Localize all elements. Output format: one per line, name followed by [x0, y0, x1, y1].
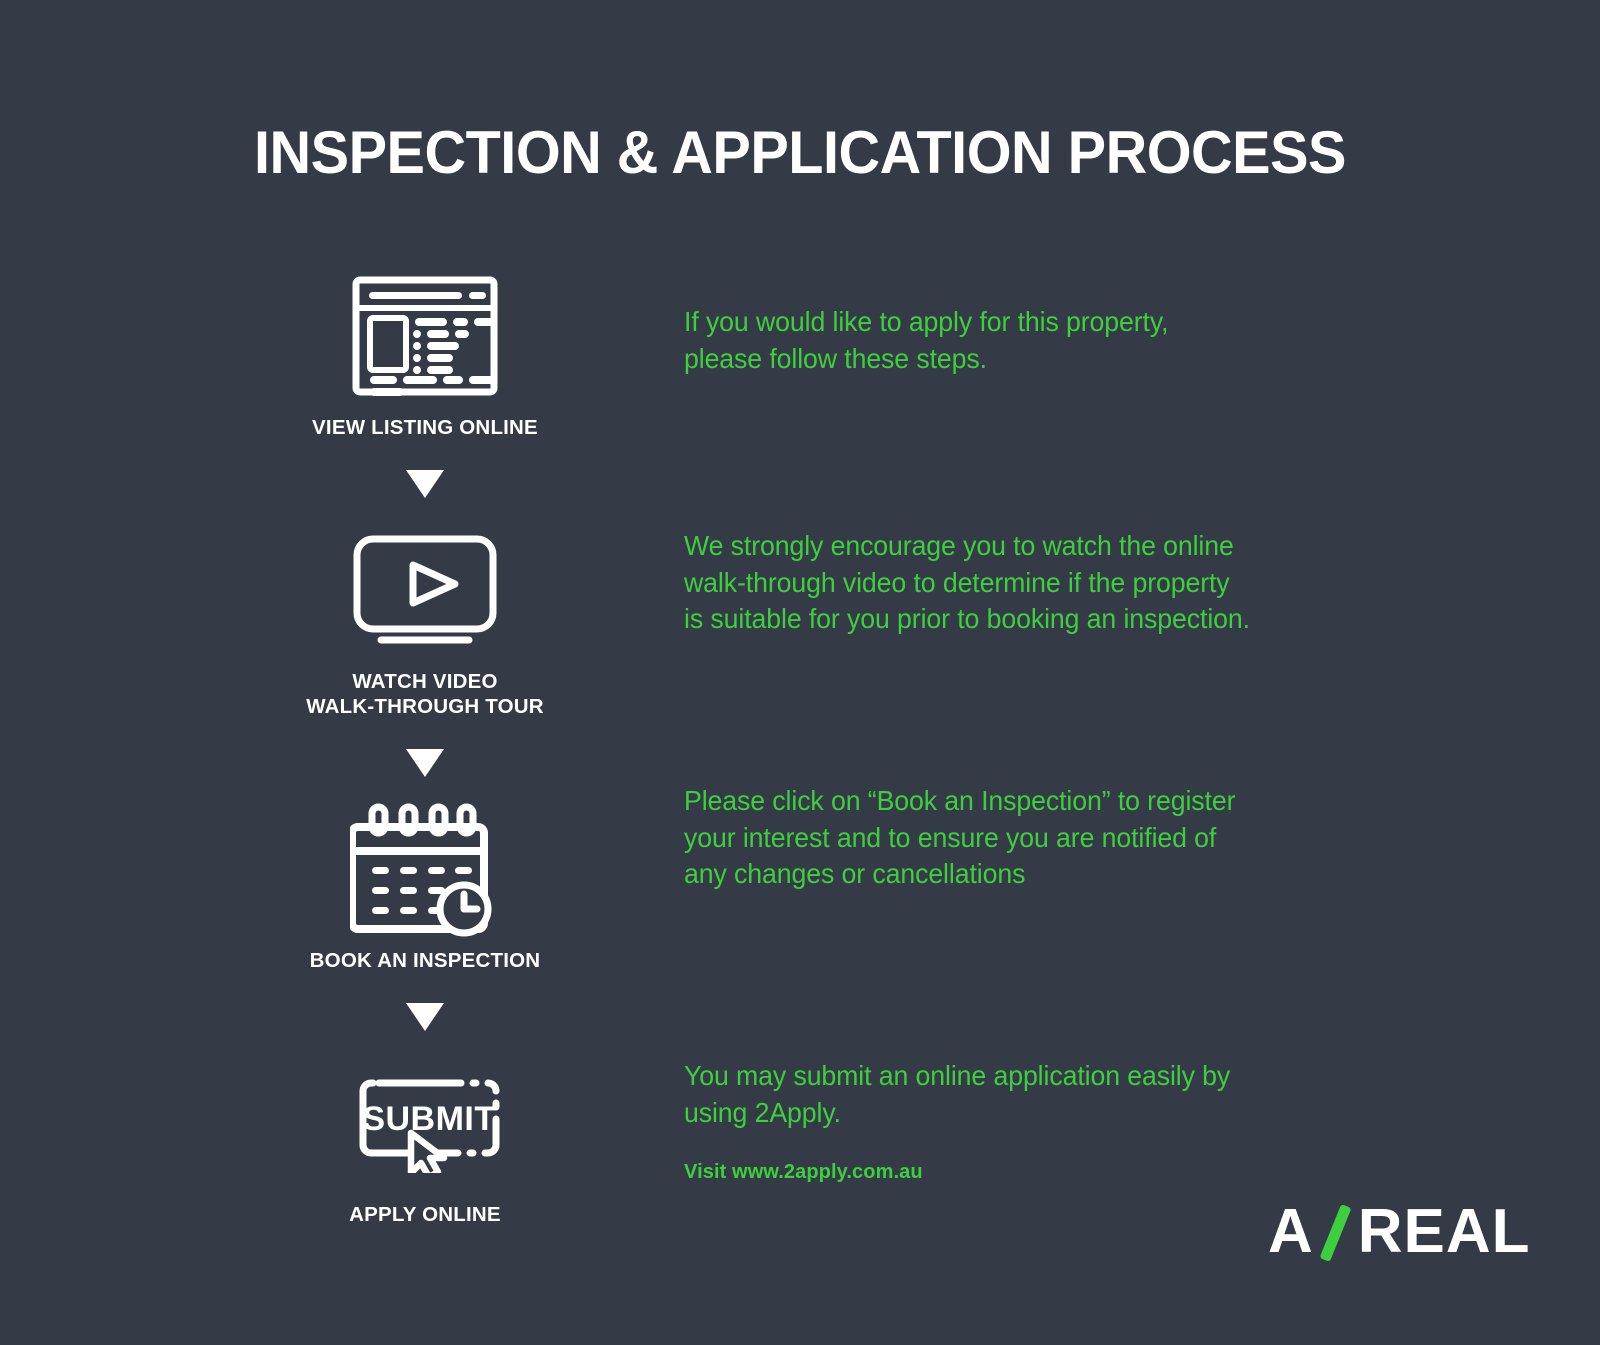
step-view-listing-online: VIEW LISTING ONLINE	[300, 268, 550, 440]
copy-watch-video: We strongly encourage you to watch the o…	[684, 528, 1392, 638]
copy-book-inspection: Please click on “Book an Inspection” to …	[684, 783, 1392, 893]
flow-arrow-3	[300, 1003, 550, 1031]
flow-arrow-2	[300, 749, 550, 777]
flow-arrow-1	[300, 470, 550, 498]
submit-button-cursor-icon: SUBMIT	[345, 1055, 505, 1190]
step-label-view-listing-online: VIEW LISTING ONLINE	[312, 415, 538, 440]
listing-page-icon	[345, 268, 505, 403]
step-label-watch-video: WATCH VIDEO WALK-THROUGH TOUR	[306, 669, 544, 719]
page-title: INSPECTION & APPLICATION PROCESS	[32, 118, 1568, 187]
calendar-clock-icon	[345, 801, 505, 936]
areal-logo: A REAL	[1268, 1196, 1531, 1268]
step-apply-online: SUBMIT APPLY ONLINE	[300, 1055, 550, 1227]
copy-apply-online: You may submit an online application eas…	[684, 1058, 1392, 1131]
visit-2apply-link[interactable]: Visit www.2apply.com.au	[684, 1161, 923, 1184]
step-label-apply-online: APPLY ONLINE	[349, 1202, 501, 1227]
steps-flow: VIEW LISTING ONLINE WATCH VIDEO WALK-THR…	[300, 268, 550, 1227]
logo-text-a: A	[1268, 1201, 1314, 1263]
step-label-book-inspection: BOOK AN INSPECTION	[310, 948, 541, 973]
step-book-inspection: BOOK AN INSPECTION	[300, 801, 550, 973]
video-monitor-play-icon	[345, 522, 505, 657]
logo-slash-icon	[1316, 1202, 1356, 1262]
step-watch-video: WATCH VIDEO WALK-THROUGH TOUR	[300, 522, 550, 719]
infographic-page: INSPECTION & APPLICATION PROCESS	[0, 0, 1600, 1345]
copy-view-listing: If you would like to apply for this prop…	[684, 304, 1392, 377]
svg-text:SUBMIT: SUBMIT	[362, 1100, 495, 1138]
logo-text-real: REAL	[1358, 1201, 1531, 1263]
